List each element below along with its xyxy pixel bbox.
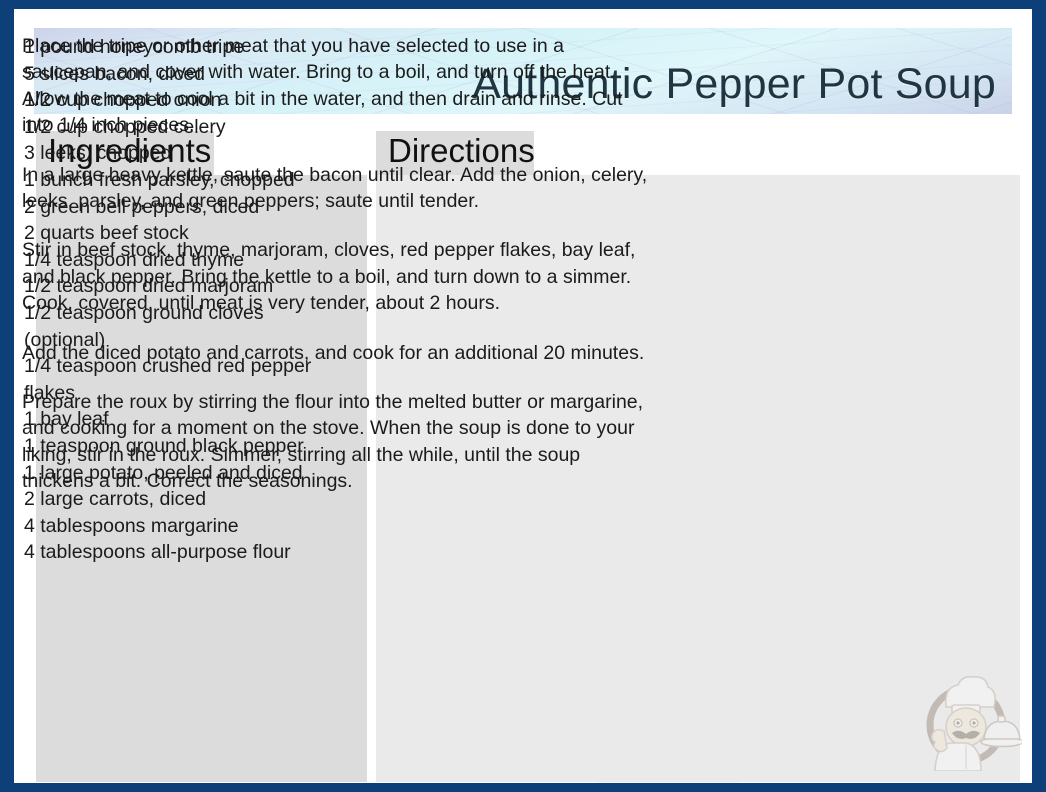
direction-step: Add the diced potato and carrots, and co… <box>22 340 654 366</box>
direction-step: Place the tripe or other meat that you h… <box>22 33 654 139</box>
recipe-card: Authentic Pepper Pot Soup Ingredients 1 … <box>14 9 1032 783</box>
direction-step: Prepare the roux by stirring the flour i… <box>22 389 654 495</box>
direction-step: Stir in beef stock, thyme, marjoram, clo… <box>22 237 654 316</box>
list-item: 4 tablespoons all-purpose flour <box>24 539 342 566</box>
direction-step: In a large heavy kettle, saute the bacon… <box>22 162 654 215</box>
directions-steps: Place the tripe or other meat that you h… <box>22 33 654 518</box>
